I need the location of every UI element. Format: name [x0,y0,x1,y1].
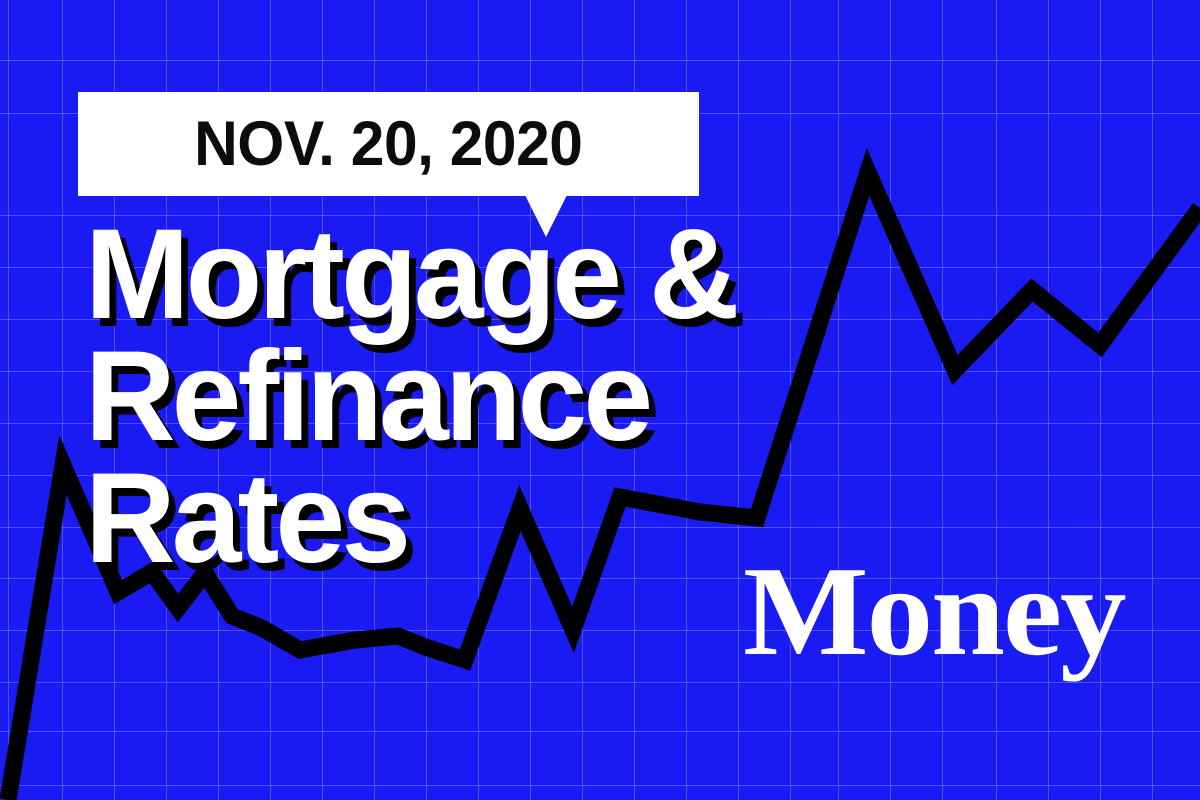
headline-line-2: Refinance [85,336,736,458]
promo-graphic: NOV. 20, 2020 Mortgage & Refinance Rates… [0,0,1200,800]
date-badge-label: NOV. 20, 2020 [194,113,582,176]
headline-line-3: Rates [85,458,736,580]
headline-line-1: Mortgage & [85,214,736,336]
date-badge: NOV. 20, 2020 [78,92,699,196]
page-title: Mortgage & Refinance Rates [85,214,749,580]
money-logo: Money [743,552,1124,670]
